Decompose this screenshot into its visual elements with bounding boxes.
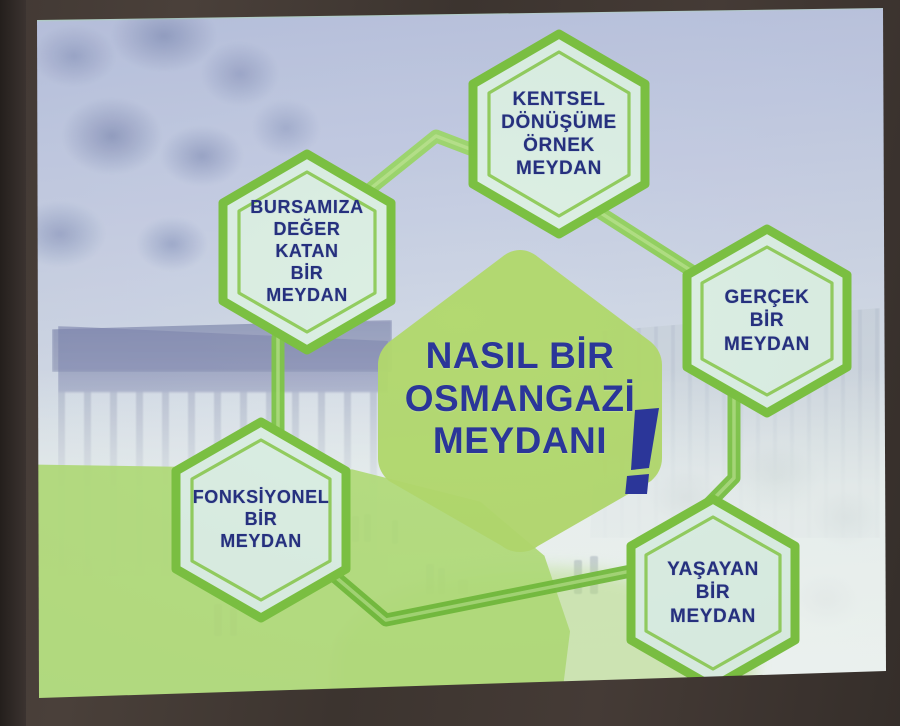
hexagon-node-fonksiyonel-bir-meydan[interactable]: FONKSİYONEL BİR MEYDAN [162, 416, 360, 624]
hexagon-node-label: FONKSİYONEL BİR MEYDAN [187, 487, 336, 553]
hexagon-node-kentsel-donusume-ornek-meydan[interactable]: KENTSEL DÖNÜŞÜME ÖRNEK MEYDAN [459, 28, 659, 240]
projection-screen: KENTSEL DÖNÜŞÜME ÖRNEK MEYDAN BURSAMIZA … [34, 8, 886, 698]
center-hexagon[interactable]: NASIL BİR OSMANGAZİ MEYDANI [375, 246, 665, 556]
hexagon-node-label: KENTSEL DÖNÜŞÜME ÖRNEK MEYDAN [495, 88, 623, 181]
center-title: NASIL BİR OSMANGAZİ MEYDANI [405, 335, 636, 464]
hexagon-node-label: YAŞAYAN BİR MEYDAN [661, 558, 765, 628]
hexagon-node-gercek-bir-meydan[interactable]: GERÇEK BİR MEYDAN [674, 223, 860, 419]
hexagon-diagram: KENTSEL DÖNÜŞÜME ÖRNEK MEYDAN BURSAMIZA … [34, 8, 886, 698]
hexagon-node-label: GERÇEK BİR MEYDAN [718, 286, 816, 356]
hexagon-node-label: BURSAMIZA DEĞER KATAN BİR MEYDAN [244, 197, 369, 307]
